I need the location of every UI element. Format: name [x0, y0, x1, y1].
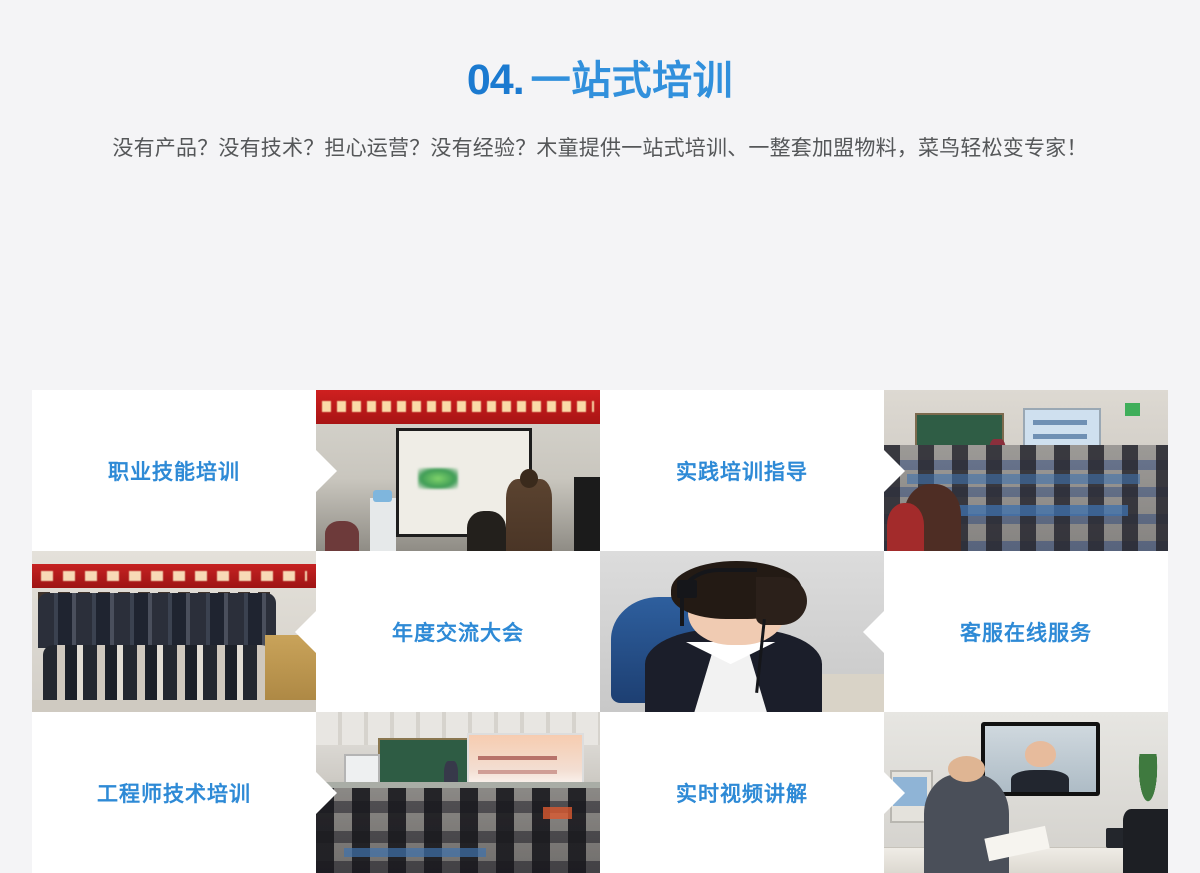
projected-light-shape [418, 468, 458, 489]
cell-label-text: 实践培训指导 [676, 456, 808, 486]
page-subtitle: 没有产品？没有技术？担心运营？没有经验？木童提供一站式培训、一整套加盟物料，菜鸟… [0, 132, 1200, 162]
lecture-hall-training-photo [316, 712, 600, 873]
chevron-left-icon [863, 611, 884, 653]
dark-wall-shape [574, 477, 600, 551]
grid-cell-photo-1[interactable] [316, 390, 600, 551]
attendee-head-shape [467, 511, 507, 551]
foreground-student-shape [887, 503, 924, 551]
chevron-right-icon [884, 772, 905, 814]
desk-shape [822, 674, 884, 713]
headset-mic-shape [677, 580, 697, 598]
chevron-right-icon [884, 450, 905, 492]
grid-cell-label-0[interactable]: 职业技能培训 [32, 390, 316, 551]
classroom-students-photo [884, 390, 1168, 551]
grid-cell-label-8[interactable]: 工程师技术培训 [32, 712, 316, 873]
grid-cell-photo-3[interactable] [884, 390, 1168, 551]
red-accent-shape [543, 807, 571, 818]
video-feed-shape [985, 726, 1096, 792]
cell-label-text: 年度交流大会 [392, 617, 524, 647]
annual-conference-group-photo [32, 551, 316, 712]
cell-label-text: 实时视频讲解 [676, 778, 808, 808]
chevron-left-icon [295, 611, 316, 653]
seminar-with-red-banner-photo [316, 390, 600, 551]
grid-cell-label-5[interactable]: 年度交流大会 [316, 551, 600, 712]
audience-shape [316, 788, 600, 873]
red-banner-shape [32, 564, 316, 588]
attendee-head-shape [325, 521, 359, 552]
chevron-right-icon [316, 450, 337, 492]
grid-cell-label-7[interactable]: 客服在线服务 [884, 551, 1168, 712]
desk-row-shape [344, 848, 486, 858]
section-number: 04. [467, 56, 524, 104]
grid-cell-photo-6[interactable] [600, 551, 884, 712]
chevron-right-icon [316, 772, 337, 814]
back-row-people-shape [38, 593, 277, 648]
water-cooler-shape [370, 498, 396, 551]
grid-cell-label-2[interactable]: 实践培训指导 [600, 390, 884, 551]
office-chair-shape [1123, 809, 1168, 873]
grid-cell-photo-11[interactable] [884, 712, 1168, 873]
grid-cell-photo-4[interactable] [32, 551, 316, 712]
section-title-text: 一站式培训 [531, 59, 734, 103]
cell-label-text: 工程师技术培训 [97, 778, 251, 808]
cell-label-text: 客服在线服务 [960, 617, 1092, 647]
grid-cell-photo-9[interactable] [316, 712, 600, 873]
exit-sign-shape [1125, 403, 1139, 416]
video-conference-office-photo [884, 712, 1168, 873]
page-header: 04.一站式培训 没有产品？没有技术？担心运营？没有经验？木童提供一站式培训、一… [0, 0, 1200, 162]
cell-label-text: 职业技能培训 [108, 456, 240, 486]
desk-row-shape [907, 474, 1140, 484]
grid-cell-label-10[interactable]: 实时视频讲解 [600, 712, 884, 873]
customer-service-headset-photo [600, 551, 884, 712]
page-title: 04.一站式培训 [0, 56, 1200, 105]
training-grid: 职业技能培训 实践培训指导 [32, 390, 1168, 873]
red-banner-shape [316, 390, 600, 424]
floor-shape [32, 700, 316, 713]
front-row-people-shape [43, 645, 270, 700]
speaker-figure-shape [506, 479, 551, 551]
